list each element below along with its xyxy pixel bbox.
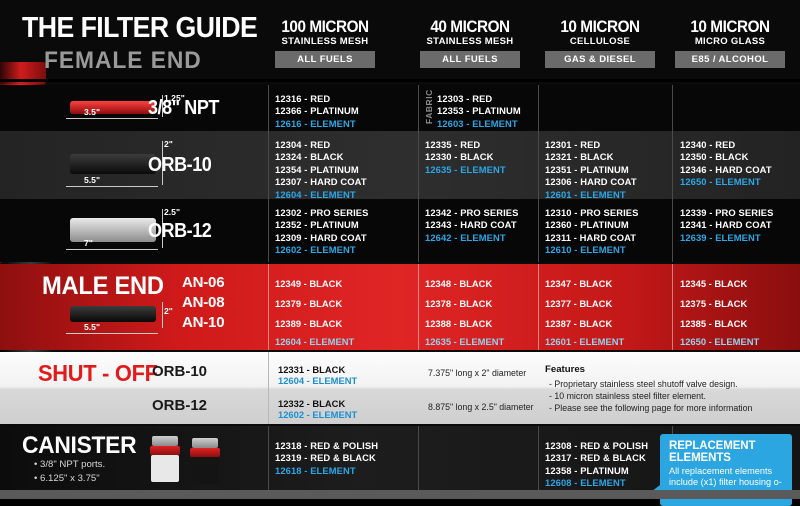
column-fuel-badge: GAS & DIESEL bbox=[545, 51, 655, 68]
features-list: - Proprietary stainless steel shutoff va… bbox=[549, 378, 797, 414]
column-divider bbox=[268, 131, 269, 199]
part-number: 12332 - BLACK bbox=[278, 398, 357, 409]
table-cell: 12310 - PRO SERIES12360 - PLATINUM12311 … bbox=[545, 199, 675, 262]
part-number: 12304 - RED bbox=[275, 139, 420, 151]
spec-item: • 6.125" x 3.75" bbox=[34, 472, 105, 486]
row-label: ORB-12 bbox=[152, 397, 207, 414]
column-material: STAINLESS MESH bbox=[275, 36, 375, 47]
row-label: ORB-12 bbox=[148, 220, 211, 243]
part-number: 12324 - BLACK bbox=[275, 151, 420, 163]
table-cell: 12302 - PRO SERIES12352 - PLATINUM12309 … bbox=[275, 199, 420, 262]
part-number: 12330 - BLACK bbox=[425, 151, 540, 163]
dim-line-vertical bbox=[162, 302, 163, 328]
column-divider bbox=[268, 264, 269, 350]
feature-item: - 10 micron stainless steel filter eleme… bbox=[549, 390, 797, 402]
element-part-number: 12618 - ELEMENT bbox=[275, 465, 420, 477]
part-number: 12389 - BLACK bbox=[275, 318, 420, 329]
column-material: MICRO GLASS bbox=[675, 36, 785, 47]
table-cell bbox=[545, 85, 675, 131]
filter-guide-page: THE FILTER GUIDE FEMALE END 100 MICRONST… bbox=[0, 0, 800, 499]
element-part-number: 12602 - ELEMENT bbox=[275, 244, 420, 256]
part-number: 12385 - BLACK bbox=[680, 318, 795, 329]
part-number: 12353 - PLATINUM bbox=[437, 105, 552, 117]
feature-item: - Please see the following page for more… bbox=[549, 402, 797, 414]
part-number: 12354 - PLATINUM bbox=[275, 164, 420, 176]
column-header-3: 10 MICRONCELLULOSEGAS & DIESEL bbox=[545, 18, 655, 68]
row-label: ORB-10 bbox=[148, 154, 211, 177]
canister-cap-icon bbox=[192, 438, 218, 448]
part-number: 12309 - HARD COAT bbox=[275, 232, 420, 244]
part-number: 12306 - HARD COAT bbox=[545, 176, 675, 188]
canister-collar-icon bbox=[150, 446, 180, 455]
fabric-tag: FABRIC bbox=[424, 94, 434, 124]
filter-body-icon bbox=[70, 101, 156, 114]
part-number: 12341 - HARD COAT bbox=[680, 219, 795, 231]
table-cell: 12332 - BLACK12602 - ELEMENT bbox=[278, 398, 357, 420]
row-label: 3/8" NPT bbox=[148, 97, 219, 120]
element-part-number: 12635 - ELEMENT bbox=[425, 336, 540, 347]
element-part-number: 12639 - ELEMENT bbox=[680, 232, 795, 244]
element-part-number: 12650 - ELEMENT bbox=[680, 176, 795, 188]
column-micron: 10 MICRON bbox=[681, 18, 780, 35]
column-header-2: 40 MICRONSTAINLESS MESHALL FUELS bbox=[420, 18, 520, 68]
page-title: THE FILTER GUIDE bbox=[22, 12, 257, 45]
dimension-length: 7" bbox=[84, 238, 93, 248]
footer-bar bbox=[0, 490, 800, 499]
part-number: 12345 - BLACK bbox=[680, 278, 795, 289]
canister-thumbnail bbox=[188, 438, 222, 486]
column-divider bbox=[268, 352, 269, 424]
column-micron: 10 MICRON bbox=[551, 18, 650, 35]
part-number: 12388 - BLACK bbox=[425, 318, 540, 329]
table-cell: 12339 - PRO SERIES12341 - HARD COAT12639… bbox=[680, 199, 795, 262]
table-row: 5.5"2"ORB-1012304 - RED12324 - BLACK1235… bbox=[0, 131, 800, 199]
feature-item: - Proprietary stainless steel shutoff va… bbox=[549, 378, 797, 390]
dimension-text: 8.875" long x 2.5" diameter bbox=[428, 402, 534, 412]
product-thumbnail: 5.5"2" bbox=[62, 298, 182, 342]
section-title-female-end: FEMALE END bbox=[44, 47, 202, 75]
table-cell bbox=[425, 432, 540, 496]
part-number: 12318 - RED & POLISH bbox=[275, 440, 420, 452]
dimension-length: 5.5" bbox=[84, 322, 100, 332]
part-number: 12347 - BLACK bbox=[545, 278, 675, 289]
table-cell: 12331 - BLACK12604 - ELEMENT bbox=[278, 364, 357, 386]
element-part-number: 12602 - ELEMENT bbox=[278, 409, 357, 420]
canister-collar-icon bbox=[190, 448, 220, 457]
row-label: AN-08 bbox=[182, 294, 224, 311]
part-number: 12316 - RED bbox=[275, 93, 420, 105]
part-number: 12340 - RED bbox=[680, 139, 795, 151]
part-number: 12348 - BLACK bbox=[425, 278, 540, 289]
spec-item: • 3/8" NPT ports. bbox=[34, 458, 105, 472]
dimension-diameter: 2.5" bbox=[164, 207, 180, 217]
part-number: 12301 - RED bbox=[545, 139, 675, 151]
part-number: 12346 - HARD COAT bbox=[680, 164, 795, 176]
part-number: 12360 - PLATINUM bbox=[545, 219, 675, 231]
element-part-number: 12603 - ELEMENT bbox=[437, 118, 552, 130]
dimension-diameter: 2" bbox=[164, 139, 173, 149]
part-number: 12387 - BLACK bbox=[545, 318, 675, 329]
column-header-4: 10 MICRONMICRO GLASSE85 / ALCOHOL bbox=[675, 18, 785, 68]
table-cell: 12304 - RED12324 - BLACK12354 - PLATINUM… bbox=[275, 131, 420, 199]
part-number: 12342 - PRO SERIES bbox=[425, 207, 540, 219]
section-title-shutoff: SHUT - OFF bbox=[38, 360, 158, 387]
table-cell bbox=[680, 85, 795, 131]
row-label: ORB-10 bbox=[152, 363, 207, 380]
element-part-number: 12635 - ELEMENT bbox=[425, 164, 540, 176]
row-label: AN-10 bbox=[182, 314, 224, 331]
table-cell: 12316 - RED12366 - PLATINUM12616 - ELEME… bbox=[275, 85, 420, 131]
column-material: CELLULOSE bbox=[545, 36, 655, 47]
canister-band: CANISTER• 3/8" NPT ports.• 6.125" x 3.75… bbox=[0, 426, 800, 490]
part-number: 12319 - RED & BLACK bbox=[275, 452, 420, 464]
element-part-number: 12642 - ELEMENT bbox=[425, 232, 540, 244]
column-micron: 40 MICRON bbox=[425, 18, 515, 35]
element-part-number: 12610 - ELEMENT bbox=[545, 244, 675, 256]
part-number: 12378 - BLACK bbox=[425, 298, 540, 309]
shutoff-band: SHUT - OFFORB-1012331 - BLACK12604 - ELE… bbox=[0, 352, 800, 424]
part-number: 12317 - RED & BLACK bbox=[545, 452, 675, 464]
table-cell: 12342 - PRO SERIES12343 - HARD COAT12642… bbox=[425, 199, 540, 262]
part-number: 12307 - HARD COAT bbox=[275, 176, 420, 188]
part-number: 12339 - PRO SERIES bbox=[680, 207, 795, 219]
row-label: AN-06 bbox=[182, 274, 224, 291]
filter-body-icon bbox=[70, 306, 156, 322]
table-cell: 12301 - RED12321 - BLACK12351 - PLATINUM… bbox=[545, 131, 675, 199]
column-divider bbox=[268, 199, 269, 262]
callout-heading: REPLACEMENT ELEMENTS bbox=[669, 440, 783, 464]
part-number: 12311 - HARD COAT bbox=[545, 232, 675, 244]
part-number: 12375 - BLACK bbox=[680, 298, 795, 309]
section-title-canister: CANISTER bbox=[22, 432, 136, 460]
dim-line-horizontal bbox=[66, 249, 158, 250]
column-divider bbox=[268, 426, 269, 490]
table-row: 7"2.5"ORB-1212302 - PRO SERIES12352 - PL… bbox=[0, 199, 800, 262]
part-number: 12335 - RED bbox=[425, 139, 540, 151]
dim-line-horizontal bbox=[66, 186, 158, 187]
part-number: 12358 - PLATINUM bbox=[545, 465, 675, 477]
table-cell: 12335 - RED12330 - BLACK12635 - ELEMENT bbox=[425, 131, 540, 199]
part-number: 12349 - BLACK bbox=[275, 278, 420, 289]
dim-line-horizontal bbox=[66, 118, 158, 119]
table-row: 3.5"1.25"3/8" NPTFABRIC12316 - RED12366 … bbox=[0, 85, 800, 131]
element-part-number: 12650 - ELEMENT bbox=[680, 336, 795, 347]
canister-body-icon bbox=[191, 457, 219, 484]
part-number: 12308 - RED & POLISH bbox=[545, 440, 675, 452]
element-part-number: 12616 - ELEMENT bbox=[275, 118, 420, 130]
filter-body-icon bbox=[70, 154, 156, 174]
part-number: 12343 - HARD COAT bbox=[425, 219, 540, 231]
part-number: 12303 - RED bbox=[437, 93, 552, 105]
column-micron: 100 MICRON bbox=[280, 18, 370, 35]
part-number: 12352 - PLATINUM bbox=[275, 219, 420, 231]
part-number: 12302 - PRO SERIES bbox=[275, 207, 420, 219]
column-fuel-badge: ALL FUELS bbox=[275, 51, 375, 68]
part-number: 12350 - BLACK bbox=[680, 151, 795, 163]
filter-body-icon bbox=[70, 218, 156, 242]
column-divider bbox=[268, 85, 269, 131]
column-fuel-badge: ALL FUELS bbox=[420, 51, 520, 68]
dimension-text: 7.375" long x 2" diameter bbox=[428, 368, 526, 378]
canister-specs: • 3/8" NPT ports.• 6.125" x 3.75" bbox=[34, 458, 105, 486]
dimension-diameter: 2" bbox=[164, 306, 173, 316]
canister-body-icon bbox=[151, 455, 179, 482]
part-number: 12331 - BLACK bbox=[278, 364, 357, 375]
column-material: STAINLESS MESH bbox=[420, 36, 520, 47]
section-title-male-end: MALE END bbox=[42, 272, 164, 301]
part-number: 12366 - PLATINUM bbox=[275, 105, 420, 117]
dimension-length: 5.5" bbox=[84, 175, 100, 185]
male-end-band: MALE END5.5"2"AN-0612349 - BLACK12348 - … bbox=[0, 264, 800, 350]
part-number: 12310 - PRO SERIES bbox=[545, 207, 675, 219]
canister-cap-icon bbox=[152, 436, 178, 446]
part-number: 12351 - PLATINUM bbox=[545, 164, 675, 176]
table-cell: 12318 - RED & POLISH12319 - RED & BLACK1… bbox=[275, 432, 420, 496]
part-number: 12379 - BLACK bbox=[275, 298, 420, 309]
features-heading: Features bbox=[545, 364, 585, 375]
column-fuel-badge: E85 / ALCOHOL bbox=[675, 51, 785, 68]
element-part-number: 12601 - ELEMENT bbox=[545, 336, 675, 347]
table-cell: 12303 - RED12353 - PLATINUM12603 - ELEME… bbox=[437, 85, 552, 131]
part-number: 12377 - BLACK bbox=[545, 298, 675, 309]
canister-thumbnail bbox=[148, 436, 182, 484]
part-number: 12321 - BLACK bbox=[545, 151, 675, 163]
header-divider bbox=[0, 79, 800, 82]
dimension-length: 3.5" bbox=[84, 107, 100, 117]
dim-line-horizontal bbox=[66, 333, 158, 334]
element-part-number: 12604 - ELEMENT bbox=[278, 375, 357, 386]
element-part-number: 12604 - ELEMENT bbox=[275, 336, 420, 347]
column-header-1: 100 MICRONSTAINLESS MESHALL FUELS bbox=[275, 18, 375, 68]
table-cell: 12340 - RED12350 - BLACK12346 - HARD COA… bbox=[680, 131, 795, 199]
